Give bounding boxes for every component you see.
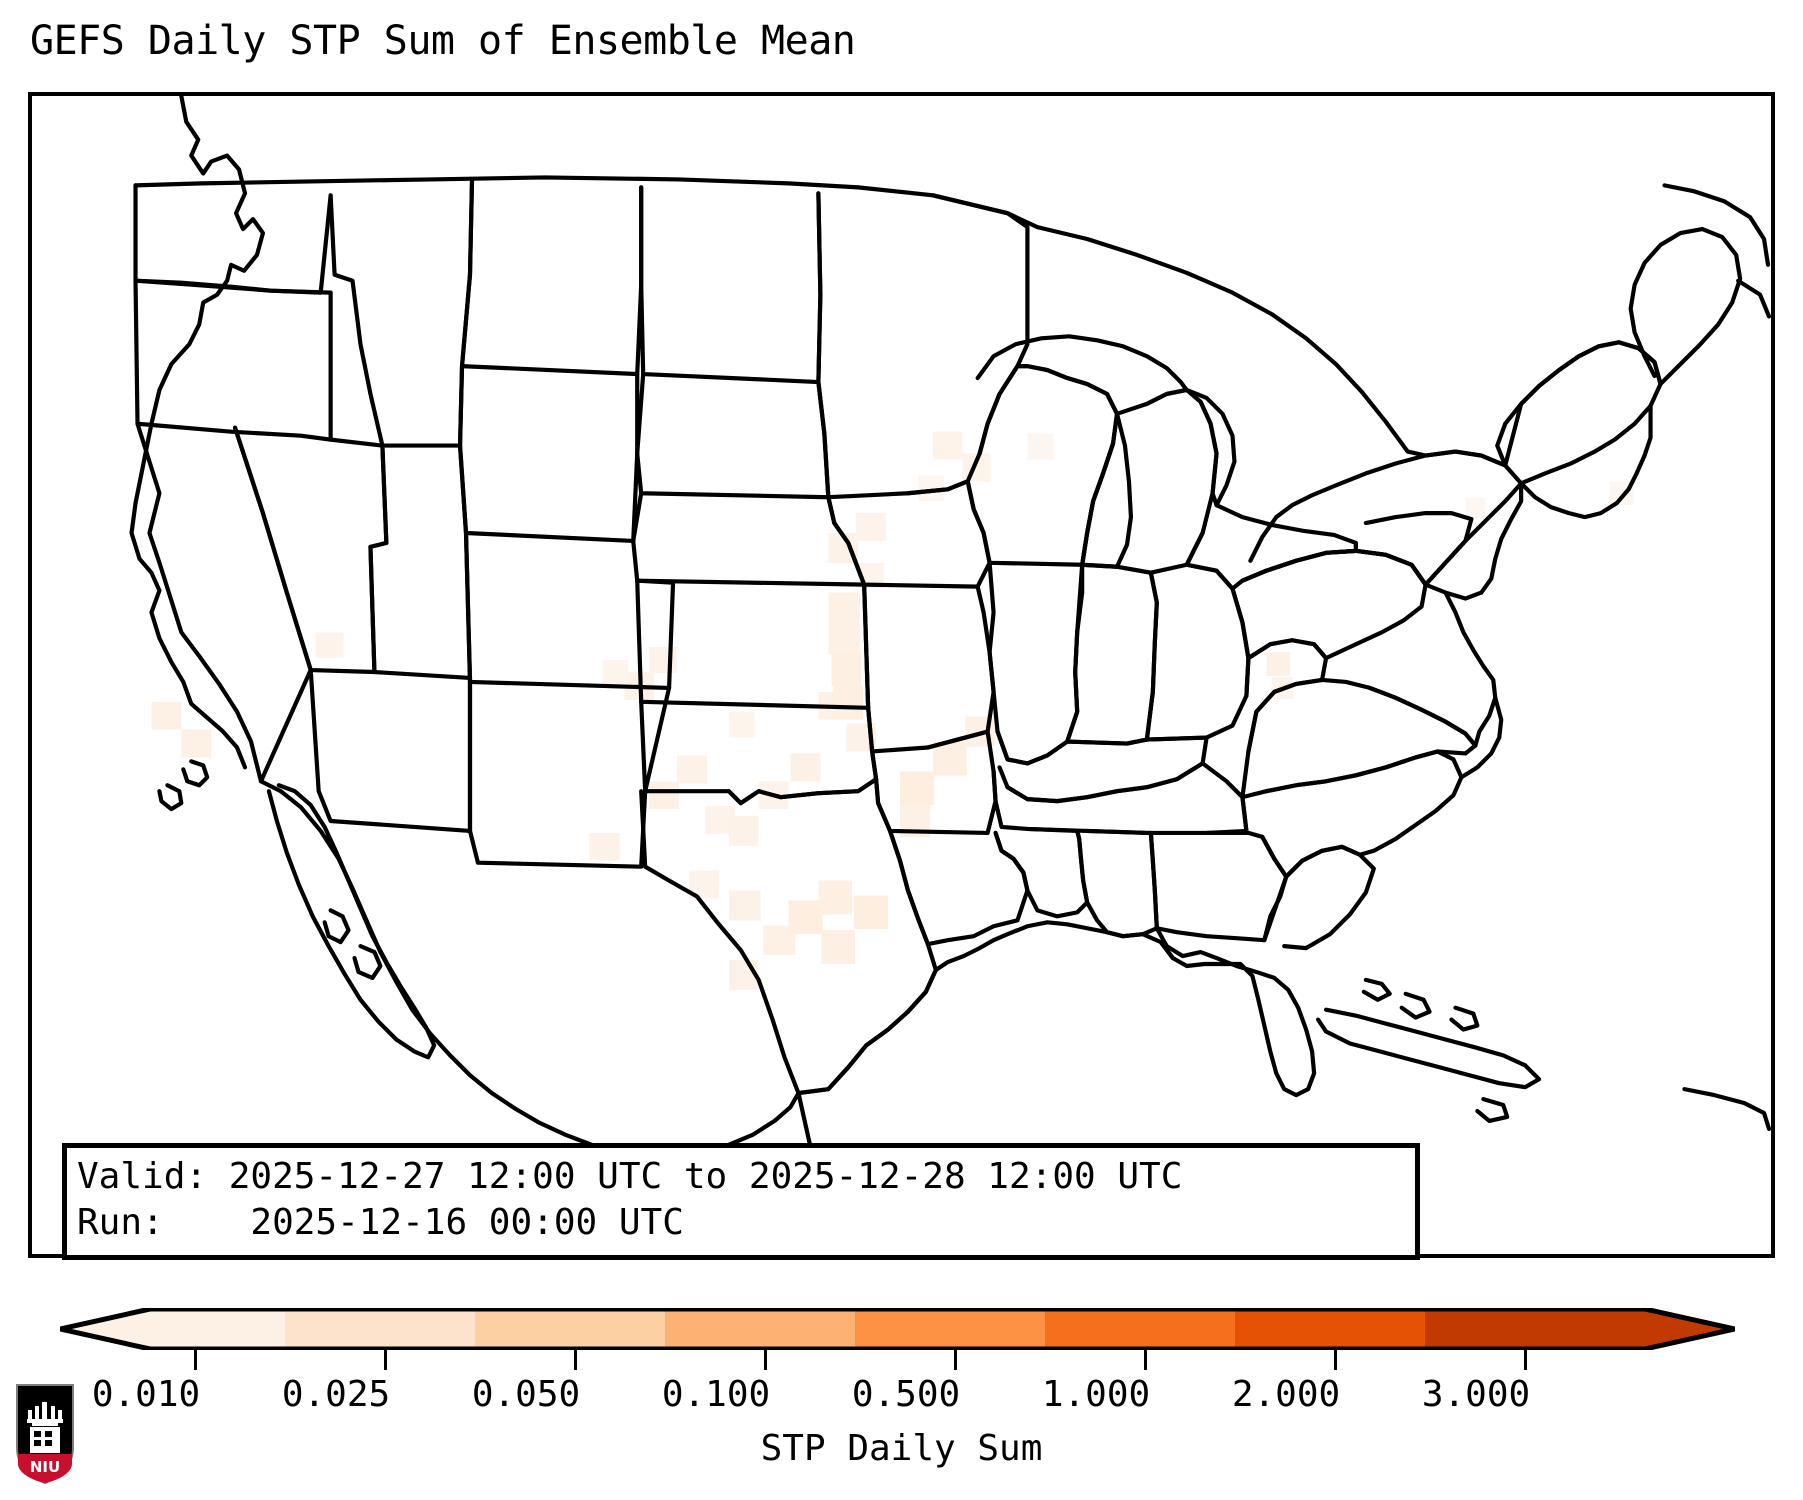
colorbar-tick-label: 0.500: [852, 1374, 960, 1415]
state-arizona: [311, 670, 470, 831]
island-sw-1: [183, 761, 207, 785]
state-north-carolina: [1242, 751, 1461, 876]
state-south-carolina: [1264, 847, 1373, 948]
map-panel: [28, 92, 1775, 1258]
state-oregon: [136, 281, 331, 440]
canada-newfoundland: [1738, 281, 1769, 317]
island-hispaniola: [1684, 1089, 1769, 1129]
island-baja-gulf-2: [355, 946, 381, 978]
colorbar-tick-label: 0.100: [662, 1374, 770, 1415]
lake-michigan: [1082, 414, 1131, 567]
colorbar-tick-label: 3.000: [1422, 1374, 1530, 1415]
state-north-dakota: [641, 187, 820, 382]
island-jamaica: [1477, 1099, 1507, 1121]
colorbar-tick: [574, 1350, 577, 1370]
info-box: Valid: 2025-12-27 12:00 UTC to 2025-12-2…: [62, 1143, 1420, 1260]
colorbar-axis-label: STP Daily Sum: [761, 1428, 1043, 1469]
canada-maritime-1: [1631, 229, 1740, 384]
canada-lakes-north: [1037, 227, 1660, 465]
state-kentucky: [998, 732, 1207, 802]
island-bahamas-1: [1364, 980, 1390, 1000]
state-mississippi: [996, 829, 1088, 916]
colorbar-tick: [764, 1350, 767, 1370]
state-nevada: [235, 428, 386, 672]
map-geography: [132, 96, 1769, 1248]
colorbar-tick-label: 1.000: [1042, 1374, 1150, 1415]
colorbar-tick-label: 0.025: [282, 1374, 390, 1415]
state-tennessee: [994, 763, 1247, 833]
run-time-line: Run: 2025-12-16 00:00 UTC: [77, 1200, 1415, 1246]
lake-superior: [978, 336, 1187, 413]
logo-text: NIU: [30, 1458, 60, 1476]
colorbar-tick-label: 0.050: [472, 1374, 580, 1415]
coastline-chesapeake: [1370, 593, 1495, 746]
island-cuba: [1318, 1010, 1539, 1087]
niu-logo: NIU: [14, 1382, 76, 1486]
state-florida: [1157, 928, 1314, 1095]
colorbar-tick: [194, 1350, 197, 1370]
island-baja-gulf-1: [325, 910, 349, 942]
colorbar-bands: [60, 1308, 1735, 1350]
valid-time-line: Valid: 2025-12-27 12:00 UTC to 2025-12-2…: [77, 1154, 1415, 1200]
state-louisiana: [890, 831, 1027, 944]
colorbar-tick: [1144, 1350, 1147, 1370]
colorbar-tick-label: 2.000: [1232, 1374, 1340, 1415]
state-montana: [462, 181, 641, 374]
state-south-dakota: [637, 374, 828, 497]
colorbar-tick: [384, 1350, 387, 1370]
state-wyoming: [460, 366, 637, 541]
colorbar-tick: [954, 1350, 957, 1370]
map-canvas: [32, 96, 1771, 1254]
state-minnesota: [818, 193, 1027, 497]
lake-huron: [1187, 390, 1235, 505]
state-alabama: [1077, 831, 1157, 936]
colorbar: 0.010 0.025 0.050 0.100 0.500 1.000 2.00…: [0, 1300, 1803, 1500]
border-wa-or: [136, 281, 331, 293]
lake-erie: [1187, 505, 1356, 588]
state-idaho: [331, 181, 472, 445]
state-pennsylvania: [1232, 551, 1425, 658]
colorbar-tick-label: 0.010: [92, 1374, 200, 1415]
colorbar-gradient: [60, 1308, 1735, 1350]
lake-ontario: [1356, 513, 1471, 585]
state-indiana: [1067, 565, 1157, 744]
canada-maritime-2: [1664, 185, 1768, 264]
page-title: GEFS Daily STP Sum of Ensemble Mean: [30, 18, 855, 64]
island-bahamas-2: [1402, 994, 1430, 1018]
colorbar-tick: [1334, 1350, 1337, 1370]
region-new-england: [1497, 342, 1660, 483]
colorbar-tick: [1524, 1350, 1527, 1370]
state-georgia: [1151, 833, 1286, 940]
island-bahamas-3: [1451, 1008, 1477, 1030]
island-sw-2: [159, 785, 181, 809]
border-canada-north-central: [858, 187, 1037, 227]
state-new-mexico: [470, 678, 669, 867]
state-washington: [136, 185, 331, 292]
